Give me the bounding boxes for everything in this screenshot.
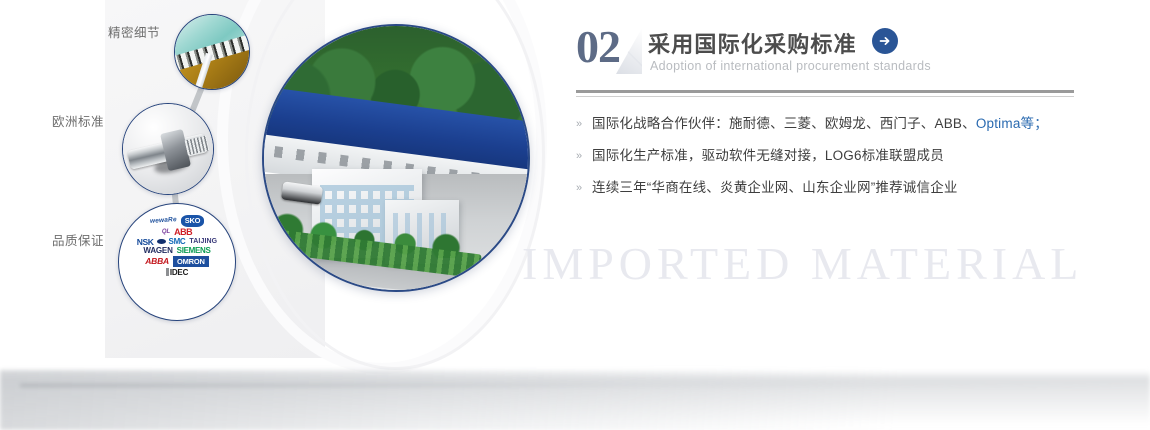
logo-smc: SMC xyxy=(169,238,186,246)
logo-abba: ABBA xyxy=(145,257,169,266)
ball-screw-photo xyxy=(122,103,214,195)
factory-building-photo xyxy=(262,24,530,292)
section-number: 02 xyxy=(576,26,620,73)
list-item: » 国际化战略合作伙伴：施耐德、三菱、欧姆龙、西门子、ABB、Optima等； xyxy=(576,114,1076,134)
label-precision-detail: 精密细节 xyxy=(108,22,160,41)
arrow-right-circle-icon[interactable] xyxy=(872,28,898,54)
floor-reflection-shadow xyxy=(0,370,1150,430)
chevron-double-right-icon: » xyxy=(576,146,592,166)
gear-detail-photo xyxy=(174,14,250,90)
chevron-double-right-icon: » xyxy=(576,114,592,134)
logo-idec: IDEC xyxy=(166,268,188,277)
section-title-en: Adoption of international procurement st… xyxy=(650,59,931,73)
section-header: 02 采用国际化采购标准 Adoption of international p… xyxy=(576,26,1096,84)
list-item-text: 国际化生产标准，驱动软件无缝对接，LOG6标准联盟成员 xyxy=(592,146,944,166)
logo-wagen: WAGEN xyxy=(143,247,172,255)
smc-mark-icon xyxy=(157,239,166,244)
list-item-text: 国际化战略合作伙伴：施耐德、三菱、欧姆龙、西门子、ABB、Optima等； xyxy=(592,114,1048,134)
logo-taijing: TAIJING xyxy=(189,238,217,245)
chevron-double-right-icon: » xyxy=(576,178,592,198)
logo-siemens: SIEMENS xyxy=(177,247,211,255)
watermark-text: IMPORTED MATERIAL xyxy=(522,237,1083,290)
list-item: » 连续三年“华商在线、炎黄企业网、山东企业网”推荐诚信企业 xyxy=(576,178,1076,198)
logo-skf: SKO xyxy=(181,215,204,227)
content-column: 02 采用国际化采购标准 Adoption of international p… xyxy=(576,0,1096,430)
logo-nsk: NSK xyxy=(137,238,154,247)
promo-banner: 精密细节 欧洲标准 品质保证 wewaRe SKO QL ABB NSK xyxy=(0,0,1150,430)
label-quality-guarantee: 品质保证 xyxy=(52,230,104,249)
section-title-cn: 采用国际化采购标准 xyxy=(648,27,857,59)
list-item-text: 连续三年“华商在线、炎黄企业网、山东企业网”推荐诚信企业 xyxy=(592,178,958,198)
list-item: » 国际化生产标准，驱动软件无缝对接，LOG6标准联盟成员 xyxy=(576,146,1076,166)
section-number-block: 02 xyxy=(576,26,642,78)
logo-abb: ABB xyxy=(174,228,192,237)
logo-weware: wewaRe xyxy=(150,217,177,225)
highlight-optima: Optima等； xyxy=(976,116,1048,131)
brand-logos-collage: wewaRe SKO QL ABB NSK SMC TAIJING WAGEN … xyxy=(118,203,236,321)
logo-omron: OMRON xyxy=(173,256,209,267)
header-divider xyxy=(576,90,1074,97)
bullet-list: » 国际化战略合作伙伴：施耐德、三菱、欧姆龙、西门子、ABB、Optima等； … xyxy=(576,114,1076,210)
logo-qilin: QL xyxy=(162,229,170,235)
label-european-standard: 欧洲标准 xyxy=(52,111,104,130)
